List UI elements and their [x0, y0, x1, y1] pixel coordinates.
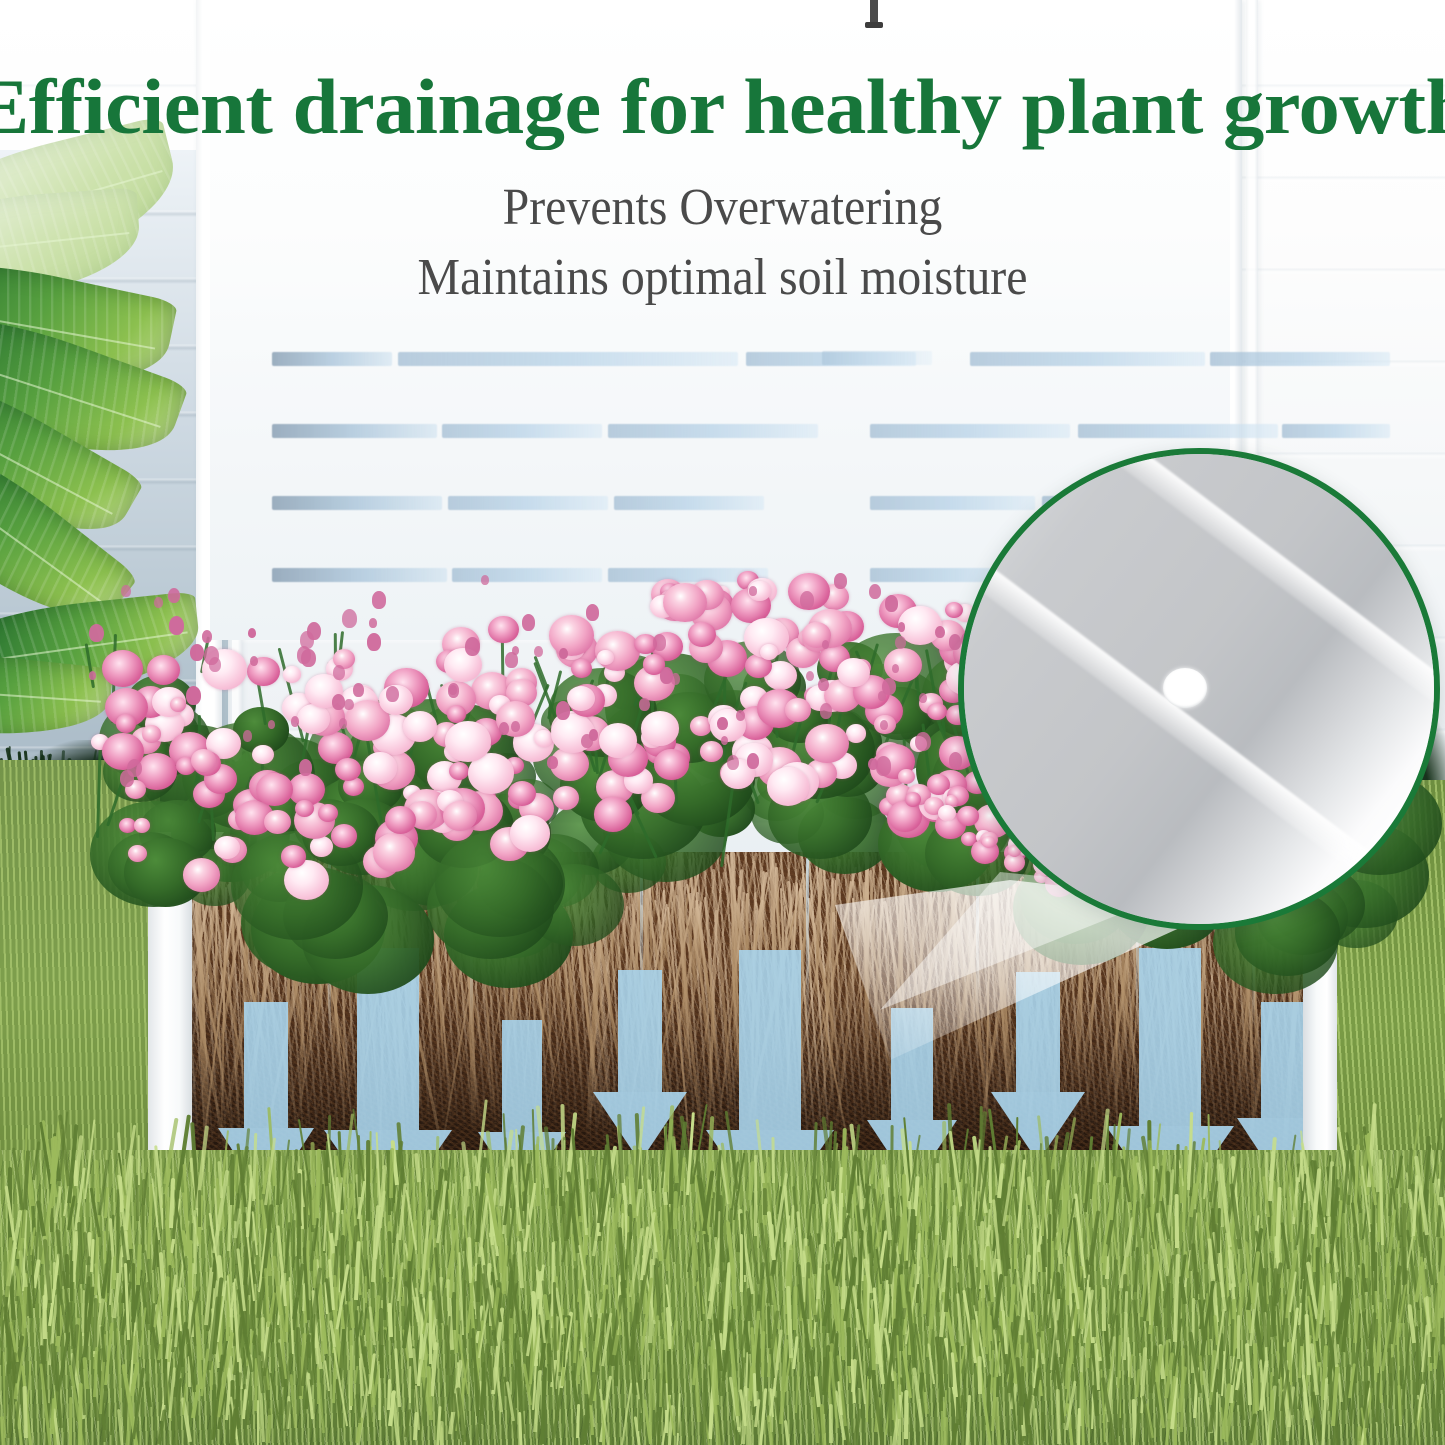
rose-bloom — [142, 725, 161, 743]
rose-bud — [586, 604, 599, 621]
rose-bloom — [373, 833, 415, 871]
grass-blade — [193, 1210, 196, 1274]
rose-bloom — [363, 752, 398, 783]
fence-slat — [614, 496, 764, 510]
rose-bud — [717, 717, 728, 730]
grass-blade — [188, 1240, 193, 1300]
rose-bud — [353, 683, 364, 696]
fence-slat — [1078, 424, 1278, 438]
rose-bud — [465, 637, 480, 656]
rose-bud — [291, 716, 299, 727]
rose-bud — [898, 622, 906, 631]
grass-blade — [911, 1209, 915, 1250]
grass-blade — [935, 1163, 939, 1235]
fence-slat — [442, 424, 602, 438]
rose-bud — [386, 686, 399, 703]
rose-bloom — [331, 824, 357, 847]
rose-bloom — [403, 711, 437, 742]
rose-bloom — [297, 704, 330, 734]
rose-bud — [89, 624, 104, 642]
rose-bloom — [767, 767, 810, 805]
grass-blade — [977, 1356, 981, 1394]
grass-blade — [230, 1154, 234, 1205]
grass-blade — [366, 1140, 370, 1221]
rose-bloom-trailing — [905, 792, 921, 807]
grass-blade — [535, 1144, 539, 1206]
rose-bloom — [700, 741, 723, 761]
rose-bloom — [449, 762, 469, 780]
rose-bloom — [318, 804, 338, 822]
rose-bud — [248, 628, 256, 638]
rose-bud — [481, 575, 489, 585]
fence-slat — [608, 424, 818, 438]
grass-blade — [638, 1399, 641, 1431]
rose-bloom — [663, 583, 706, 622]
rose-bud — [121, 585, 130, 597]
rose-bloom — [571, 659, 592, 678]
grass-blade — [163, 1194, 166, 1250]
rose-bud — [736, 710, 745, 721]
rose-bud — [876, 756, 892, 775]
rose-bud — [919, 693, 927, 703]
fence-slat — [398, 352, 738, 366]
rose-bud — [727, 755, 739, 770]
rose-bloom — [134, 818, 151, 833]
grass-blade — [1086, 1337, 1089, 1368]
rose-bloom — [641, 711, 679, 745]
rose-bloom — [214, 836, 239, 859]
rose-bloom — [128, 845, 147, 862]
fence-slat — [272, 352, 392, 366]
rose-bud — [301, 649, 316, 667]
rose-bud — [190, 644, 204, 661]
rose-bud — [892, 664, 899, 673]
rose-bud — [800, 591, 814, 609]
grass-blade — [198, 1190, 201, 1227]
rose-bud — [547, 756, 557, 769]
product-feature-infographic: Efficient drainage for healthy plant gro… — [0, 0, 1445, 1445]
rose-bloom — [335, 758, 361, 781]
rose-bud — [204, 646, 219, 665]
grass-blade — [133, 1336, 137, 1364]
grass-blade — [1101, 1287, 1106, 1332]
rose-bud — [747, 753, 760, 769]
rose-bloom — [688, 622, 716, 647]
rose-bloom — [594, 797, 633, 832]
sprinkler-head-icon — [870, 0, 878, 26]
rose-bloom-trailing — [938, 805, 956, 821]
rose-bud — [367, 633, 381, 650]
fence-slat — [870, 424, 1070, 438]
grass-blade — [1237, 1315, 1240, 1359]
rose-bud — [660, 667, 674, 684]
rose-bud — [559, 648, 568, 659]
rose-bud — [512, 646, 519, 655]
rose-bud — [120, 770, 133, 787]
grass-blade — [349, 1330, 353, 1406]
rose-bloom — [927, 703, 947, 721]
rose-bloom — [445, 721, 491, 762]
grass-blade — [1041, 1412, 1044, 1440]
rose-bud — [169, 616, 184, 635]
fence-slat — [822, 351, 932, 365]
rose-bud — [949, 752, 962, 768]
rose-bud — [806, 671, 814, 681]
rose-bud — [186, 686, 201, 705]
fence-slat — [448, 496, 608, 510]
rose-bud — [333, 665, 345, 680]
rose-bloom — [805, 724, 848, 763]
page-title: Efficient drainage for healthy plant gro… — [0, 62, 1445, 152]
rose-bud — [721, 736, 728, 745]
grass-blade — [1252, 1187, 1255, 1216]
magnified-drainage-hole-callout — [958, 448, 1440, 930]
rose-bud — [307, 622, 321, 640]
rose-bloom — [283, 666, 302, 683]
grass-blade — [93, 1298, 97, 1351]
fence-slat — [1282, 424, 1390, 438]
drainage-hole-icon — [1163, 668, 1207, 708]
rose-bud — [250, 656, 258, 666]
fence-slat — [272, 424, 437, 438]
rose-bud — [949, 634, 961, 649]
rose-bud — [339, 718, 347, 728]
rose-bud — [499, 722, 509, 735]
rose-bloom — [760, 644, 778, 660]
rose-bloom-trailing — [898, 769, 915, 785]
rose-bud — [332, 694, 345, 710]
rose-bloom — [884, 648, 922, 682]
rose-bud — [522, 614, 535, 631]
grass-blade — [1217, 1208, 1221, 1253]
rose-bloom — [654, 749, 689, 780]
rose-bud — [581, 734, 593, 749]
rose-bud — [168, 588, 180, 603]
rose-bud — [653, 634, 666, 650]
grass-blade — [1357, 1426, 1361, 1445]
rose-bloom — [785, 698, 811, 721]
rose-bloom — [599, 723, 637, 757]
grass-blade — [1270, 1390, 1273, 1420]
rose-bud — [243, 730, 253, 742]
grass-blade — [1289, 1341, 1292, 1385]
rose-bud — [882, 678, 896, 695]
grass-blade — [383, 1277, 386, 1320]
rose-bud — [369, 618, 377, 628]
rose-bloom — [443, 801, 477, 832]
rose-bloom — [510, 815, 550, 851]
grass-blade — [364, 1276, 366, 1303]
rose-bud — [372, 591, 386, 608]
rose-bloom — [553, 786, 579, 810]
rose-bloom — [837, 658, 870, 687]
grass-blade — [847, 1327, 851, 1366]
rose-bud — [834, 573, 847, 589]
rose-bud — [299, 759, 312, 776]
rose-bud — [822, 640, 829, 649]
rose-bud — [534, 646, 543, 657]
rose-bloom — [256, 773, 292, 806]
fence-slat — [1210, 352, 1390, 366]
grass-blade — [740, 1234, 743, 1292]
rose-bud — [749, 586, 756, 595]
grass-blade — [42, 1295, 46, 1339]
grass-blade — [439, 1421, 444, 1445]
fence-slat — [272, 496, 442, 510]
grass-blade — [1013, 1234, 1016, 1269]
rose-bud — [885, 595, 899, 612]
subtitle-maintains-soil-moisture: Maintains optimal soil moisture — [58, 248, 1387, 307]
rose-bud — [202, 630, 212, 643]
rose-bud — [895, 636, 906, 649]
rose-bud — [154, 597, 163, 608]
grass-blade — [793, 1286, 797, 1330]
grass-blade — [829, 1404, 833, 1443]
rose-bud — [556, 701, 571, 719]
rose-bloom — [281, 845, 306, 867]
rose-bud — [869, 584, 881, 599]
rose-bud — [915, 732, 931, 752]
rose-bud — [935, 626, 945, 639]
fence-slat — [970, 352, 1205, 366]
grass-blade — [509, 1318, 513, 1364]
rose-bloom — [488, 616, 518, 643]
rose-bud — [639, 698, 649, 711]
rose-bud — [448, 683, 460, 698]
grass-blade — [452, 1292, 456, 1330]
rose-bloom — [116, 714, 136, 732]
rose-bud — [89, 671, 96, 680]
rose-bud — [342, 609, 358, 629]
rose-bloom — [549, 615, 594, 656]
grass-blade — [904, 1390, 908, 1439]
rose-bud — [344, 699, 353, 711]
rose-bloom — [310, 836, 333, 857]
subtitle-prevents-overwatering: Prevents Overwatering — [58, 178, 1387, 237]
